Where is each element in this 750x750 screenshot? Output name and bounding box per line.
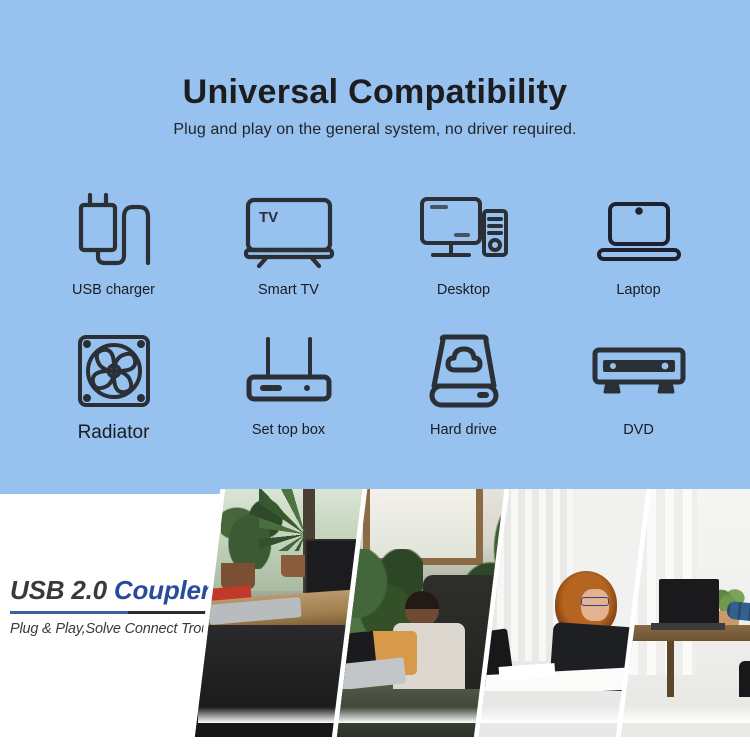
compatibility-panel: Universal Compatibility Plug and play on… xyxy=(0,0,750,489)
device-label: Set top box xyxy=(252,422,325,438)
product-banner: USB 2.0 Couplers Plug & Play,Solve Conne… xyxy=(0,489,750,750)
page-title: Universal Compatibility xyxy=(0,73,750,112)
device-item-smart-tv: TV Smart TV xyxy=(201,188,376,328)
usb-charger-icon xyxy=(72,188,156,274)
device-icon-grid: USB charger TV Smart TV xyxy=(26,188,726,468)
device-item-dvd: DVD xyxy=(551,328,726,468)
set-top-box-icon xyxy=(241,328,337,414)
desktop-computer-icon xyxy=(416,188,512,274)
tv-screen-text: TV xyxy=(259,209,278,226)
device-row-1: USB charger TV Smart TV xyxy=(26,188,726,328)
smart-tv-icon: TV xyxy=(241,188,337,274)
device-item-radiator: Radiator xyxy=(26,328,201,468)
device-label: Radiator xyxy=(78,422,150,444)
brand-title-primary: USB 2.0 xyxy=(10,575,114,605)
dvd-player-icon xyxy=(589,328,689,414)
device-item-hard-drive: Hard drive xyxy=(376,328,551,468)
page-subtitle: Plug and play on the general system, no … xyxy=(0,121,750,139)
brand-divider-accent xyxy=(10,611,128,614)
hard-drive-cloud-icon xyxy=(424,328,504,414)
photo-bottom-fade xyxy=(198,707,750,723)
device-item-desktop: Desktop xyxy=(376,188,551,328)
brand-divider xyxy=(10,611,225,614)
device-label: Laptop xyxy=(616,282,660,298)
device-label: DVD xyxy=(623,422,654,438)
device-label: Smart TV xyxy=(258,282,319,298)
device-label: USB charger xyxy=(72,282,155,298)
product-infographic: Universal Compatibility Plug and play on… xyxy=(0,0,750,750)
laptop-icon xyxy=(593,188,685,274)
device-item-laptop: Laptop xyxy=(551,188,726,328)
device-row-2: Radiator Set top box xyxy=(26,328,726,468)
photo-strip xyxy=(198,489,750,723)
device-item-usb-charger: USB charger xyxy=(26,188,201,328)
device-label: Hard drive xyxy=(430,422,497,438)
device-label: Desktop xyxy=(437,282,490,298)
radiator-fan-icon xyxy=(73,328,155,414)
device-item-set-top-box: Set top box xyxy=(201,328,376,468)
